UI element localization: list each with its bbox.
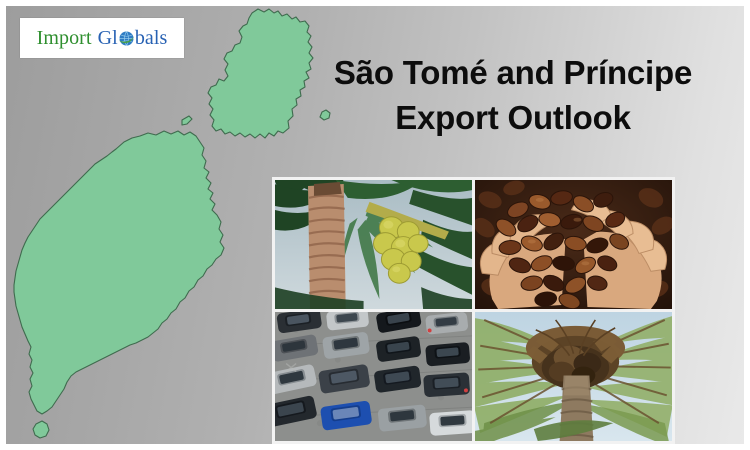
title-line-1: São Tomé and Príncipe <box>300 50 726 95</box>
sao-tome-and-principe-export-outlook-banner: Import Gl bals São Tomé and <box>0 0 750 450</box>
logo-word-import: Import <box>37 28 92 48</box>
coconut-palm-photo <box>275 180 472 309</box>
principe-island <box>208 9 313 138</box>
cars-parking-lot-photo <box>275 312 472 441</box>
import-globals-logo[interactable]: Import Gl bals <box>20 18 184 58</box>
sao-tome-island <box>14 131 224 414</box>
ilheu-das-rolas-islet <box>33 421 49 438</box>
globe-icon <box>118 30 135 47</box>
small-islet-strait <box>182 116 192 125</box>
page-title: São Tomé and Príncipe Export Outlook <box>300 50 726 140</box>
oil-palm-photo <box>475 312 672 441</box>
logo-word-bals: bals <box>135 28 168 48</box>
title-line-2: Export Outlook <box>300 95 726 140</box>
logo-word-gl: Gl <box>98 28 118 48</box>
logo-text: Import Gl bals <box>37 28 168 48</box>
cocoa-beans-photo <box>475 180 672 309</box>
banner-stage: Import Gl bals São Tomé and <box>6 6 744 444</box>
export-commodities-photo-grid <box>272 177 675 444</box>
